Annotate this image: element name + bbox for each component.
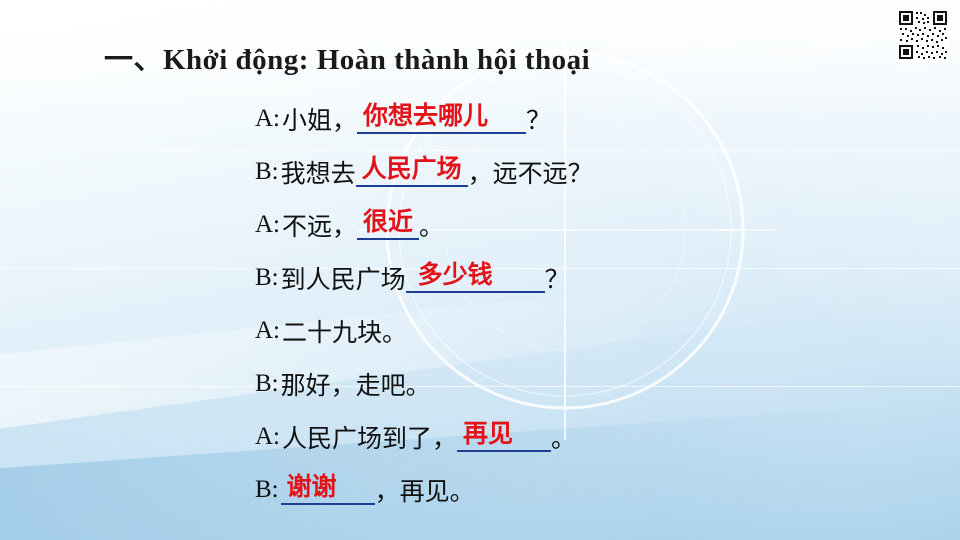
dialogue-line: A:不远，很近。 bbox=[255, 198, 955, 251]
dialogue-text: 人民广场到了， bbox=[282, 419, 457, 455]
dialogue-speaker: A: bbox=[255, 423, 280, 451]
dialogue-text: 。 bbox=[419, 207, 444, 243]
dialogue-line: A:人民广场到了，再见。 bbox=[255, 410, 955, 463]
answer-blank: 再见 bbox=[457, 421, 551, 453]
answer-blank: 人民广场 bbox=[356, 156, 468, 188]
dialogue-text: 不远， bbox=[282, 207, 357, 243]
dialogue-line: B:谢谢，再见。 bbox=[255, 463, 955, 516]
dialogue-text: ？ bbox=[526, 101, 551, 137]
dialogue-line: B:那好，走吧。 bbox=[255, 357, 955, 410]
dialogue-text: 小姐， bbox=[282, 101, 357, 137]
dialogue-text: ？ bbox=[545, 260, 570, 296]
dialogue-line: A:小姐，你想去哪儿？ bbox=[255, 92, 955, 145]
dialogue-line: A:二十九块。 bbox=[255, 304, 955, 357]
dialogue-line: B:到人民广场多少钱？ bbox=[255, 251, 955, 304]
slide-content: 一、Khởi động: Hoàn thành hội thoại A:小姐，你… bbox=[0, 0, 960, 540]
dialogue-list: A:小姐，你想去哪儿？B:我想去人民广场，远不远？A:不远，很近。B:到人民广场… bbox=[255, 92, 955, 516]
dialogue-line: B:我想去人民广场，远不远？ bbox=[255, 145, 955, 198]
dialogue-text: 。 bbox=[551, 419, 576, 455]
dialogue-text: 二十九块。 bbox=[282, 313, 407, 349]
dialogue-text: 到人民广场 bbox=[281, 260, 406, 296]
dialogue-speaker: B: bbox=[255, 476, 279, 504]
answer-blank: 很近 bbox=[357, 209, 419, 241]
answer-blank: 你想去哪儿 bbox=[357, 103, 526, 135]
dialogue-speaker: A: bbox=[255, 317, 280, 345]
dialogue-text: 我想去 bbox=[281, 154, 356, 190]
dialogue-speaker: B: bbox=[255, 264, 279, 292]
page-title: 一、Khởi động: Hoàn thành hội thoại bbox=[104, 36, 590, 78]
dialogue-text: ，远不远？ bbox=[468, 154, 593, 190]
dialogue-speaker: B: bbox=[255, 370, 279, 398]
dialogue-speaker: A: bbox=[255, 211, 280, 239]
answer-blank: 谢谢 bbox=[281, 474, 375, 506]
answer-blank: 多少钱 bbox=[406, 262, 545, 294]
dialogue-text: ，再见。 bbox=[375, 472, 475, 508]
slide: 一、Khởi động: Hoàn thành hội thoại A:小姐，你… bbox=[0, 0, 960, 540]
dialogue-speaker: B: bbox=[255, 158, 279, 186]
dialogue-speaker: A: bbox=[255, 105, 280, 133]
dialogue-text: 那好，走吧。 bbox=[281, 366, 431, 402]
